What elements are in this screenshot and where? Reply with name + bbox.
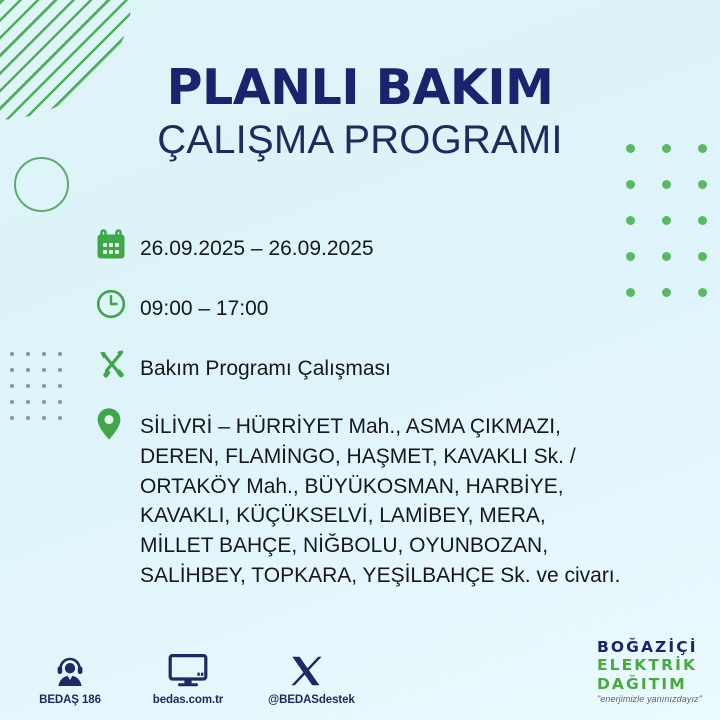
dot [58,400,62,404]
dot [10,368,14,372]
planned-maintenance-poster: PLANLI BAKIM ÇALIŞMA PROGRAMI [0,0,720,720]
tools-icon [96,348,140,389]
dot [698,180,707,189]
time-range-value: 09:00 – 17:00 [140,288,268,324]
dot [42,368,46,372]
dot [58,368,62,372]
calendar-icon [96,228,140,269]
date-range-value: 26.09.2025 – 26.09.2025 [140,228,374,264]
dot [662,216,671,225]
x-account-label: @BEDASdestek [268,694,344,706]
poster-header: PLANLI BAKIM ÇALIŞMA PROGRAMI [0,62,720,163]
dot [26,384,30,388]
dot [10,384,14,388]
location-pin-icon [96,406,140,447]
contact-x-account[interactable]: @BEDASdestek [268,649,344,706]
poster-footer: BEDAŞ 186 bedas.com.tr [0,624,720,720]
dot [698,216,707,225]
dot [42,400,46,404]
monitor-icon [150,649,226,687]
work-type-value: Bakım Programı Çalışması [140,348,391,384]
website-label: bedas.com.tr [150,694,226,706]
dot [58,416,62,420]
dot [698,252,707,261]
page-title: PLANLI BAKIM [0,62,720,113]
dot [662,180,671,189]
dot [10,400,14,404]
brand-line-elektrik: ELEKTRİK [597,658,702,674]
call-center-label: BEDAŞ 186 [32,694,108,706]
circle-outline-decoration [14,157,69,212]
contact-website[interactable]: bedas.com.tr [150,649,226,706]
contact-channels: BEDAŞ 186 bedas.com.tr [32,649,344,706]
dot [626,180,635,189]
contact-call-center[interactable]: BEDAŞ 186 [32,649,108,706]
dot [58,384,62,388]
dot [58,352,62,356]
dot [26,352,30,356]
dot [698,288,707,297]
x-social-icon [268,649,344,687]
bedas-logo: BOĞAZİÇİ ELEKTRİK DAĞITIM "enerjimizle y… [597,640,702,705]
brand-line-bogazici: BOĞAZİÇİ [597,640,702,656]
dot [42,416,46,420]
dot [10,352,14,356]
brand-line-dagitim: DAĞITIM [597,677,702,693]
dot [26,416,30,420]
maintenance-details: 26.09.2025 – 26.09.2025 09:00 – 17:00 [96,228,696,607]
left-dot-grid-decoration [10,352,74,432]
dot [26,400,30,404]
detail-row-time: 09:00 – 17:00 [96,288,696,329]
detail-row-location: SİLİVRİ – HÜRRİYET Mah., ASMA ÇIKMAZI, D… [96,406,696,591]
affected-areas-value: SİLİVRİ – HÜRRİYET Mah., ASMA ÇIKMAZI, D… [140,406,620,591]
detail-row-date: 26.09.2025 – 26.09.2025 [96,228,696,269]
call-center-agent-icon [32,649,108,687]
dot [626,216,635,225]
dot [10,416,14,420]
detail-row-work-type: Bakım Programı Çalışması [96,348,696,389]
dot [42,352,46,356]
dot [26,368,30,372]
clock-icon [96,288,140,329]
page-subtitle: ÇALIŞMA PROGRAMI [0,119,720,162]
brand-slogan: "enerjimizle yanınızdayız" [597,695,702,704]
dot [42,384,46,388]
